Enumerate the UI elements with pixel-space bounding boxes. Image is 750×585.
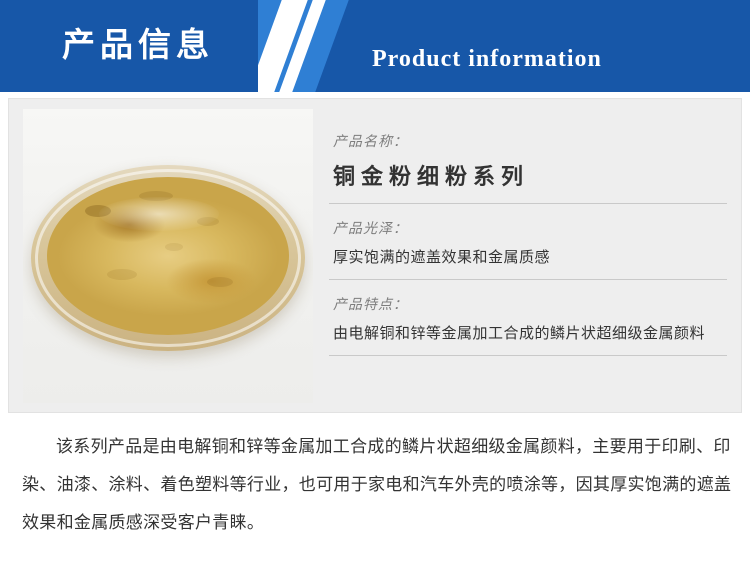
spec-label: 产品特点： — [329, 282, 727, 322]
petri-dish-icon — [31, 165, 305, 351]
product-photo — [23, 109, 313, 403]
spec-value: 铜金粉细粉系列 — [329, 159, 727, 203]
product-description: 该系列产品是由电解铜和锌等金属加工合成的鳞片状超细级金属颜料，主要用于印刷、印染… — [22, 428, 732, 542]
dish-highlight — [99, 197, 219, 231]
page-title-cn: 产品信息 — [62, 22, 214, 68]
product-information-page: 产品信息 Product information — [0, 0, 750, 585]
spec-label: 产品名称： — [329, 119, 727, 159]
spec-item-gloss: 产品光泽： 厚实饱满的遮盖效果和金属质感 — [329, 206, 727, 280]
page-header: 产品信息 Product information — [0, 0, 750, 92]
spec-item-features: 产品特点： 由电解铜和锌等金属加工合成的鳞片状超细级金属颜料 — [329, 282, 727, 356]
spec-item-name: 产品名称： 铜金粉细粉系列 — [329, 119, 727, 204]
photo-background — [23, 109, 313, 403]
spec-label: 产品光泽： — [329, 206, 727, 246]
spec-divider — [329, 355, 727, 356]
product-card: 产品名称： 铜金粉细粉系列 产品光泽： 厚实饱满的遮盖效果和金属质感 产品特点：… — [8, 98, 742, 413]
product-spec-list: 产品名称： 铜金粉细粉系列 产品光泽： 厚实饱满的遮盖效果和金属质感 产品特点：… — [329, 119, 727, 358]
spec-divider — [329, 279, 727, 280]
spec-value: 厚实饱满的遮盖效果和金属质感 — [329, 246, 727, 279]
spec-divider — [329, 203, 727, 204]
spec-value: 由电解铜和锌等金属加工合成的鳞片状超细级金属颜料 — [329, 322, 727, 355]
page-title-en: Product information — [372, 46, 602, 73]
gold-powder — [47, 177, 289, 335]
